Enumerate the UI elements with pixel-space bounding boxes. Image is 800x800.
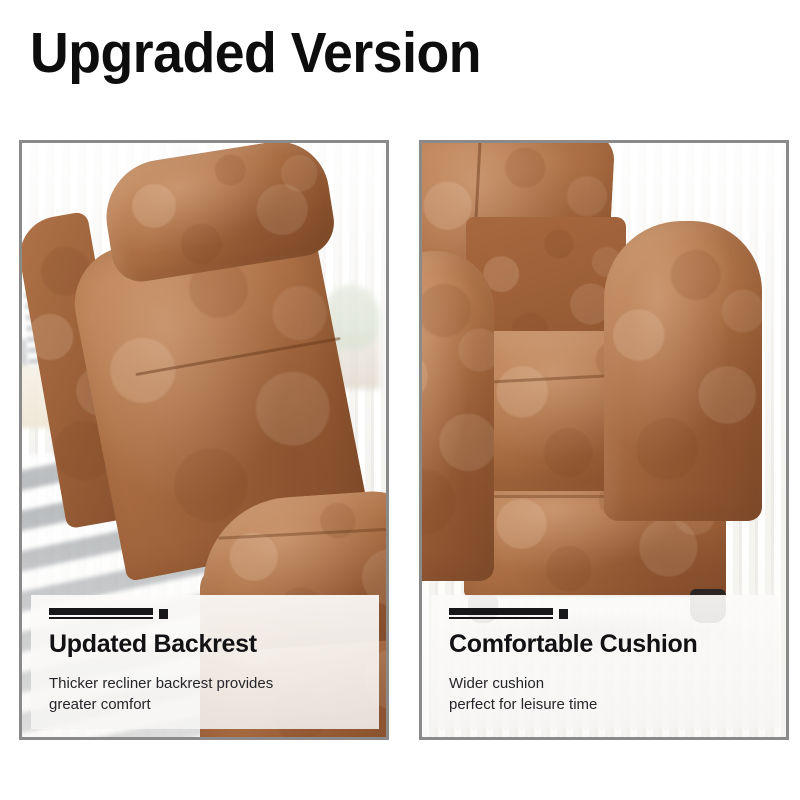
product-photo-panel-left: Updated Backrest Thicker recliner backre… bbox=[19, 140, 389, 740]
caption-title: Comfortable Cushion bbox=[449, 630, 761, 659]
recliner-arm-right bbox=[604, 221, 762, 521]
caption-body: Wider cushion perfect for leisure time bbox=[449, 673, 761, 716]
accent-square-icon bbox=[559, 609, 568, 619]
accent-bar-thick bbox=[449, 608, 553, 615]
recliner-arm-left bbox=[422, 251, 494, 581]
product-photo-panel-right: Comfortable Cushion Wider cushion perfec… bbox=[419, 140, 789, 740]
accent-bar-thin bbox=[449, 617, 553, 619]
caption-body-line-2: perfect for leisure time bbox=[449, 694, 761, 715]
caption-body: Thicker recliner backrest provides great… bbox=[49, 673, 361, 716]
accent-bar bbox=[49, 608, 171, 621]
page-title: Upgraded Version bbox=[30, 22, 481, 86]
accent-bar bbox=[449, 608, 571, 621]
product-photo-side-profile: Updated Backrest Thicker recliner backre… bbox=[22, 143, 386, 737]
caption-body-line-2: greater comfort bbox=[49, 694, 361, 715]
accent-bar-thin bbox=[49, 617, 153, 619]
caption-body-line-1: Wider cushion bbox=[449, 673, 761, 694]
accent-bar-thick bbox=[49, 608, 153, 615]
caption-card-right: Comfortable Cushion Wider cushion perfec… bbox=[431, 595, 779, 729]
caption-card-left: Updated Backrest Thicker recliner backre… bbox=[31, 595, 379, 729]
product-feature-page: Upgraded Version bbox=[0, 0, 800, 800]
caption-body-line-1: Thicker recliner backrest provides bbox=[49, 673, 361, 694]
caption-title: Updated Backrest bbox=[49, 630, 361, 659]
accent-square-icon bbox=[159, 609, 168, 619]
product-photo-front-three-quarter: Comfortable Cushion Wider cushion perfec… bbox=[422, 143, 786, 737]
